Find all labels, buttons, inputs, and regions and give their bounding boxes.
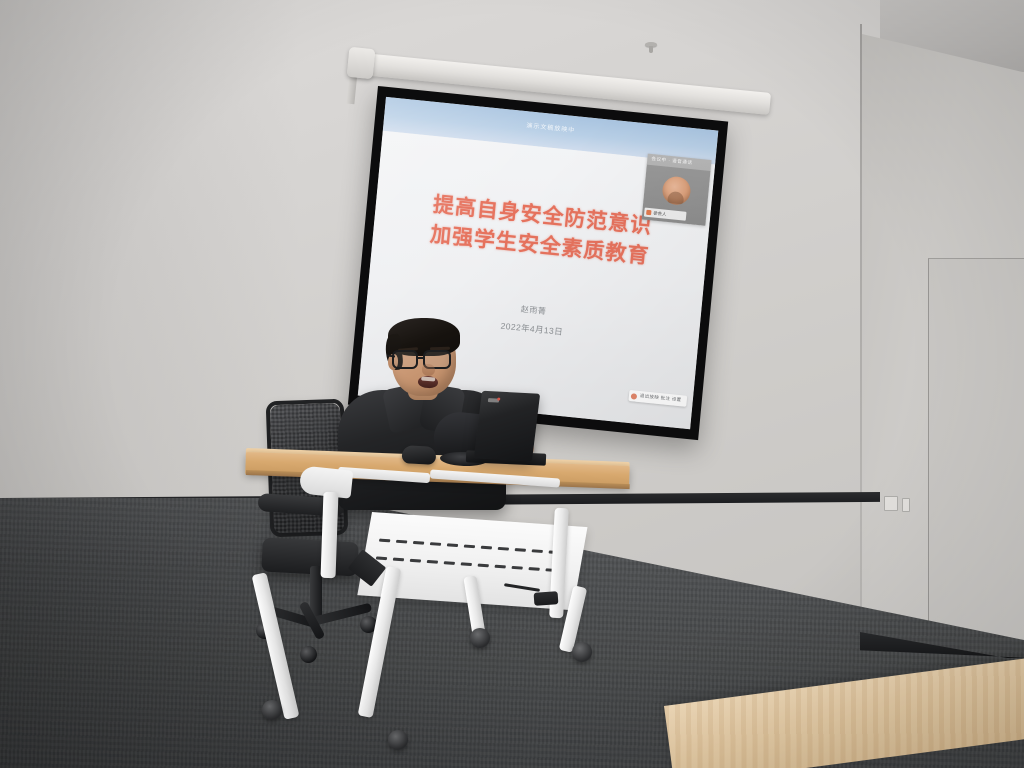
video-call-header-text: 会议中 · 语音通话 xyxy=(651,156,693,166)
flush-door-panel[interactable] xyxy=(928,258,1024,679)
wall-corner-edge xyxy=(860,24,862,664)
video-call-footer-text: 参会人 xyxy=(653,210,667,217)
photo-scene: 演示文稿放映中 提高自身安全防范意识 加强学生安全素质教育 赵雨菁 2022年4… xyxy=(0,0,1024,768)
video-call-panel[interactable]: 会议中 · 语音通话 参会人 xyxy=(642,154,712,226)
table-caster xyxy=(388,730,408,750)
table-leg-upper xyxy=(321,492,339,578)
participant-status-dot xyxy=(646,210,651,215)
table-caster xyxy=(572,642,592,662)
slideshow-status-text: 演示文稿放映中 xyxy=(526,120,576,134)
video-call-footer[interactable]: 参会人 xyxy=(644,208,687,221)
participant-avatar xyxy=(661,175,691,206)
panel-slot-row xyxy=(379,539,569,556)
ceiling-sprinkler-icon xyxy=(644,42,658,55)
chair-caster xyxy=(300,646,317,663)
wall-outlet[interactable] xyxy=(884,496,898,511)
wall-outlet-switch[interactable] xyxy=(902,498,910,512)
glasses-lens-left xyxy=(392,350,418,369)
record-icon[interactable] xyxy=(631,393,638,400)
slideshow-toolbar-text: 退出放映 批注 设置 xyxy=(640,393,682,403)
laptop-brand-logo xyxy=(488,398,499,403)
screen-roller-end-cap xyxy=(347,47,376,79)
glasses-bridge xyxy=(417,357,425,359)
presenter-nose xyxy=(422,364,435,376)
floor-power-plug xyxy=(534,591,559,606)
table-caster xyxy=(470,628,490,648)
panel-slot-row xyxy=(376,556,566,573)
table-caster xyxy=(262,700,282,720)
laptop[interactable] xyxy=(474,391,540,462)
computer-mouse[interactable] xyxy=(402,445,437,465)
